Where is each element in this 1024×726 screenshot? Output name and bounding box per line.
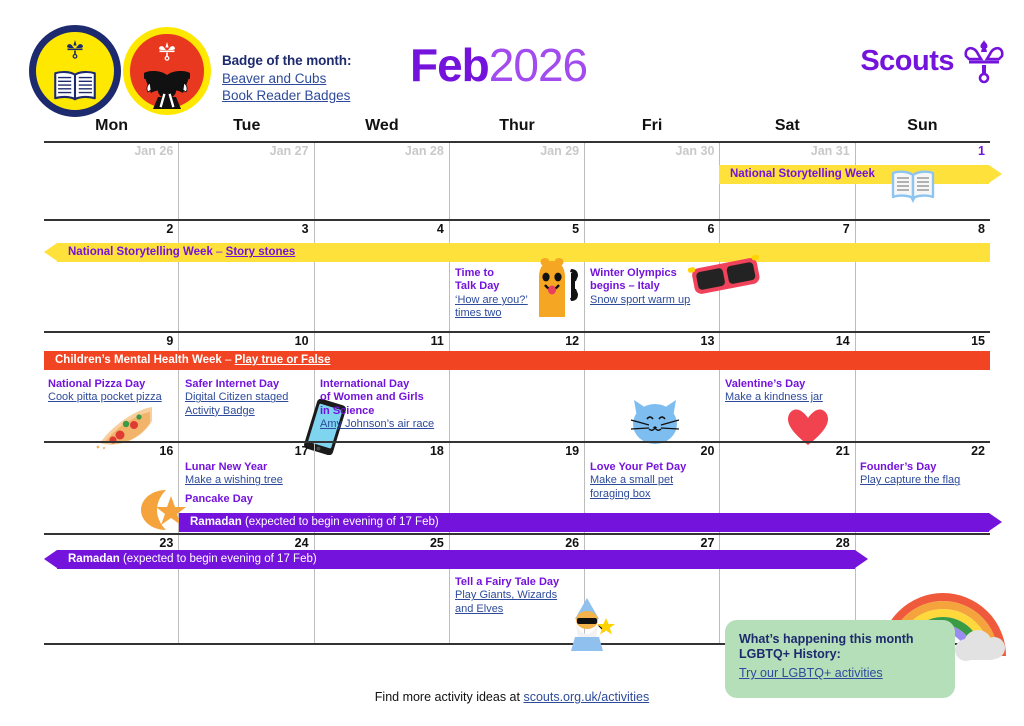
callout-line-1: What’s happening this month bbox=[739, 632, 941, 647]
event-link-line[interactable]: Play capture the flag bbox=[860, 474, 1010, 487]
event-title-line: Tell a Fairy Tale Day bbox=[455, 576, 605, 589]
banner-sub: (expected to begin evening of 17 Feb) bbox=[120, 553, 317, 565]
scouts-wordmark: Scouts bbox=[860, 45, 954, 78]
day-number: 18 bbox=[430, 444, 444, 458]
callout-line-2: LGBTQ+ History: bbox=[739, 647, 941, 662]
calendar-week-row-3: 9 10 11 12 13 14 15 Children’s Mental He… bbox=[44, 331, 990, 441]
day-number: 21 bbox=[836, 444, 850, 458]
calendar-week-row-1: Jan 26 Jan 27 Jan 28 Jan 29 Jan 30 Jan 3… bbox=[44, 141, 990, 219]
badge-of-the-month-label: Badge of the month: bbox=[222, 53, 351, 68]
event-title-line: Lunar New Year bbox=[185, 461, 313, 474]
weekday-sat: Sat bbox=[720, 113, 855, 141]
banner-link[interactable]: Play true or False bbox=[235, 354, 331, 366]
banner-sub: (expected to begin evening of 17 Feb) bbox=[242, 516, 439, 528]
fleur-de-lis-icon bbox=[63, 39, 87, 59]
event-link-line[interactable]: Make a kindness jar bbox=[725, 391, 853, 404]
weekday-mon: Mon bbox=[44, 113, 179, 141]
event-title-line: in Science bbox=[320, 405, 448, 418]
event-lunar-new-year[interactable]: Lunar New Year Make a wishing tree bbox=[185, 461, 313, 488]
day-number: 12 bbox=[565, 334, 579, 348]
event-title-line: Safer Internet Day bbox=[185, 378, 313, 391]
day-cell-jan30[interactable]: Jan 30 bbox=[584, 143, 719, 219]
day-number: 26 bbox=[565, 536, 579, 550]
weekday-tue: Tue bbox=[179, 113, 314, 141]
banner-title: Children’s Mental Health Week bbox=[55, 354, 222, 366]
open-book-icon bbox=[52, 70, 98, 102]
day-number: 9 bbox=[166, 334, 173, 348]
event-title-line: National Pizza Day bbox=[48, 378, 176, 391]
scouts-logo[interactable]: Scouts bbox=[860, 38, 1006, 84]
event-women-girls-science[interactable]: International Day of Women and Girls in … bbox=[320, 378, 448, 432]
day-number: Jan 31 bbox=[811, 144, 850, 158]
banner-title: National Storytelling Week bbox=[68, 246, 213, 258]
day-number: 25 bbox=[430, 536, 444, 550]
day-number: 2 bbox=[166, 222, 173, 236]
day-number: 14 bbox=[836, 334, 850, 348]
event-link-line[interactable]: Digital Citizen staged bbox=[185, 391, 313, 404]
wizard-icon bbox=[561, 597, 615, 653]
banner-sub: – bbox=[222, 354, 235, 366]
day-number: 28 bbox=[836, 536, 850, 550]
event-link-line[interactable]: Amy Johnson’s air race bbox=[320, 418, 448, 431]
day-number: 8 bbox=[978, 222, 985, 236]
banner-title: Ramadan bbox=[68, 553, 120, 565]
event-safer-internet-day[interactable]: Safer Internet Day Digital Citizen stage… bbox=[185, 378, 313, 418]
banner-title: Ramadan bbox=[190, 516, 242, 528]
day-cell-jan26[interactable]: Jan 26 bbox=[44, 143, 178, 219]
banner-arrow-left-icon bbox=[44, 550, 57, 568]
event-title-line: Valentine’s Day bbox=[725, 378, 853, 391]
day-cell-jan29[interactable]: Jan 29 bbox=[449, 143, 584, 219]
day-number: 11 bbox=[431, 334, 444, 348]
day-number: 16 bbox=[159, 444, 173, 458]
book-reader-silhouette-icon bbox=[141, 67, 193, 111]
day-cell-feb-12[interactable]: 12 bbox=[449, 333, 584, 441]
callout-link[interactable]: Try our LGBTQ+ activities bbox=[739, 666, 941, 680]
event-title-line: International Day bbox=[320, 378, 448, 391]
footer-text: Find more activity ideas at bbox=[375, 690, 524, 704]
cat-icon bbox=[625, 395, 687, 445]
banner-national-storytelling-week-1[interactable]: National Storytelling Week bbox=[719, 165, 989, 184]
weekday-sun: Sun bbox=[855, 113, 990, 141]
day-cell-feb-3[interactable]: 3 bbox=[178, 221, 313, 331]
banner-arrow-right-icon bbox=[989, 513, 1002, 531]
badge-link-beaver-cubs[interactable]: Beaver and Cubs bbox=[222, 70, 422, 87]
day-number: 22 bbox=[971, 444, 985, 458]
event-link-line[interactable]: Make a wishing tree bbox=[185, 474, 313, 487]
event-link-line[interactable]: Activity Badge bbox=[185, 405, 313, 418]
day-number: 4 bbox=[437, 222, 444, 236]
event-title-line: Pancake Day bbox=[185, 493, 313, 506]
day-number: Jan 26 bbox=[134, 144, 173, 158]
footer-link[interactable]: scouts.org.uk/activities bbox=[523, 690, 649, 704]
weekday-fri: Fri bbox=[585, 113, 720, 141]
banner-ramadan-week-4[interactable]: Ramadan (expected to begin evening of 17… bbox=[179, 513, 989, 532]
day-number: 23 bbox=[159, 536, 173, 550]
day-number: 17 bbox=[295, 444, 309, 458]
beaver-phone-icon bbox=[533, 257, 579, 319]
year-label: 2026 bbox=[489, 39, 587, 91]
banner-arrow-left-icon bbox=[44, 243, 57, 261]
whats-happening-callout[interactable]: What’s happening this month LGBTQ+ Histo… bbox=[725, 620, 955, 698]
calendar-week-row-2: 2 3 4 5 6 7 8 National Storytelling Week… bbox=[44, 219, 990, 331]
event-title-line: of Women and Girls bbox=[320, 391, 448, 404]
event-link-line[interactable]: foraging box bbox=[590, 488, 718, 501]
month-label: Feb bbox=[410, 39, 489, 91]
banner-childrens-mental-health-week[interactable]: Children’s Mental Health Week – Play tru… bbox=[44, 351, 990, 370]
day-number: 13 bbox=[701, 334, 715, 348]
fleur-de-lis-icon bbox=[962, 38, 1006, 84]
weekday-header-row: Mon Tue Wed Thur Fri Sat Sun bbox=[44, 113, 990, 141]
fleur-de-lis-icon bbox=[155, 41, 179, 61]
day-cell-jan28[interactable]: Jan 28 bbox=[314, 143, 449, 219]
banner-arrow-right-icon bbox=[989, 165, 1002, 183]
banner-arrow-right-icon bbox=[855, 550, 868, 568]
footer: Find more activity ideas at scouts.org.u… bbox=[0, 690, 1024, 704]
event-pancake-day[interactable]: Pancake Day bbox=[185, 493, 313, 506]
badge-link-book-reader[interactable]: Book Reader Badges bbox=[222, 87, 422, 104]
day-number: 20 bbox=[701, 444, 715, 458]
event-national-pizza-day[interactable]: National Pizza Day Cook pitta pocket piz… bbox=[48, 378, 176, 405]
event-love-your-pet-day[interactable]: Love Your Pet Day Make a small pet forag… bbox=[590, 461, 718, 501]
event-title-line: Love Your Pet Day bbox=[590, 461, 718, 474]
calendar-grid: Jan 26 Jan 27 Jan 28 Jan 29 Jan 30 Jan 3… bbox=[44, 141, 990, 645]
event-valentines-day[interactable]: Valentine’s Day Make a kindness jar bbox=[725, 378, 853, 405]
day-number: Jan 29 bbox=[540, 144, 579, 158]
day-number: 5 bbox=[572, 222, 579, 236]
day-number: 15 bbox=[971, 334, 985, 348]
weekday-thur: Thur bbox=[449, 113, 584, 141]
page-header: Badge of the month: Beaver and Cubs Book… bbox=[0, 0, 1024, 112]
banner-national-storytelling-week-2[interactable]: National Storytelling Week – Story stone… bbox=[57, 243, 990, 262]
weekday-wed: Wed bbox=[314, 113, 449, 141]
day-number: Jan 27 bbox=[270, 144, 309, 158]
day-number: 1 bbox=[978, 144, 985, 158]
day-number: 19 bbox=[565, 444, 579, 458]
event-link-line[interactable]: Make a small pet bbox=[590, 474, 718, 487]
banner-title: National Storytelling Week bbox=[730, 168, 875, 180]
ski-goggles-icon bbox=[688, 255, 764, 299]
day-number: Jan 30 bbox=[675, 144, 714, 158]
banner-sub: – bbox=[213, 246, 226, 258]
day-number: 27 bbox=[701, 536, 715, 550]
banner-link[interactable]: Story stones bbox=[226, 246, 296, 258]
day-number: 6 bbox=[707, 222, 714, 236]
day-number: 7 bbox=[843, 222, 850, 236]
day-number: 24 bbox=[295, 536, 309, 550]
badge-of-the-month-caption: Badge of the month: Beaver and Cubs Book… bbox=[222, 52, 422, 104]
event-title-line: Founder’s Day bbox=[860, 461, 1010, 474]
badge-of-the-month-cub[interactable] bbox=[123, 27, 211, 115]
day-number: Jan 28 bbox=[405, 144, 444, 158]
day-cell-feb-8[interactable]: 8 bbox=[855, 221, 990, 331]
day-cell-feb-4[interactable]: 4 bbox=[314, 221, 449, 331]
day-number: 10 bbox=[295, 334, 309, 348]
day-cell-feb-15[interactable]: 15 bbox=[855, 333, 990, 441]
day-cell-feb-2[interactable]: 2 bbox=[44, 221, 178, 331]
event-founders-day[interactable]: Founder’s Day Play capture the flag bbox=[860, 461, 1010, 488]
day-cell-jan27[interactable]: Jan 27 bbox=[178, 143, 313, 219]
open-book-icon bbox=[889, 168, 937, 208]
calendar-week-row-4: 16 17 18 19 20 21 22 Lunar New Year Make… bbox=[44, 441, 990, 533]
badge-of-the-month-beaver[interactable] bbox=[29, 25, 121, 117]
page-title: Feb2026 bbox=[410, 40, 587, 90]
day-number: 3 bbox=[302, 222, 309, 236]
banner-ramadan-week-5[interactable]: Ramadan (expected to begin evening of 17… bbox=[57, 550, 855, 569]
